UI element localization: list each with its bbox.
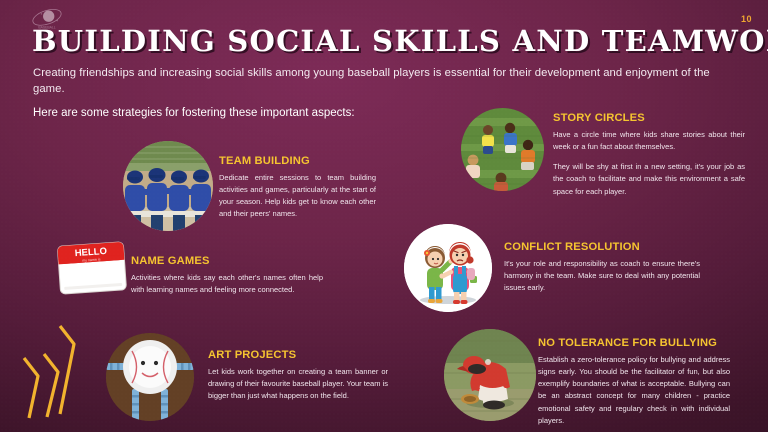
section-heading: CONFLICT RESOLUTION — [504, 241, 700, 253]
section-heading: STORY CIRCLES — [553, 112, 745, 124]
section-team-building: TEAM BUILDING Dedicate entire sessions t… — [219, 155, 376, 221]
section-no-tolerance-bullying: NO TOLERANCE FOR BULLYING Establish a ze… — [538, 337, 730, 427]
section-heading: NAME GAMES — [131, 255, 323, 267]
hello-name-tag-badge: HELLO my name is — [55, 240, 129, 298]
team-on-bench-photo — [123, 141, 213, 231]
section-paragraph: Establish a zero-tolerance policy for bu… — [538, 354, 730, 427]
section-heading: TEAM BUILDING — [219, 155, 376, 167]
section-story-circles: STORY CIRCLES Have a circle time where k… — [553, 112, 745, 198]
section-conflict-resolution: CONFLICT RESOLUTION It's your role and r… — [504, 241, 700, 294]
paper-plate-baseball-craft-photo — [106, 333, 194, 421]
chevron-decoration-icon — [14, 318, 84, 422]
section-heading: ART PROJECTS — [208, 349, 388, 361]
section-art-projects: ART PROJECTS Let kids work together on c… — [208, 349, 388, 402]
intro-paragraph: Creating friendships and increasing soci… — [33, 65, 739, 97]
slide-canvas: BASEBALL 10 BUILDING SOCIAL SKILLS AND T… — [0, 0, 768, 432]
two-girls-arguing-illustration — [404, 224, 492, 312]
section-paragraph: Dedicate entire sessions to team buildin… — [219, 172, 376, 221]
section-paragraph: It's your role and responsibility as coa… — [504, 258, 700, 294]
section-name-games: NAME GAMES Activities where kids say eac… — [131, 255, 323, 296]
crouching-player-photo — [444, 329, 536, 421]
lead-in-text: Here are some strategies for fostering t… — [33, 106, 355, 121]
section-heading: NO TOLERANCE FOR BULLYING — [538, 337, 730, 349]
page-number: 10 — [741, 14, 752, 24]
section-paragraph: Let kids work together on creating a tea… — [208, 366, 388, 402]
page-title: BUILDING SOCIAL SKILLS AND TEAMWORK — [32, 27, 768, 56]
section-paragraph: They will be shy at first in a new setti… — [553, 161, 745, 197]
section-paragraph: Activities where kids say each other's n… — [131, 272, 323, 296]
section-paragraph: Have a circle time where kids share stor… — [553, 129, 745, 153]
kids-circle-on-grass-photo — [461, 108, 544, 191]
